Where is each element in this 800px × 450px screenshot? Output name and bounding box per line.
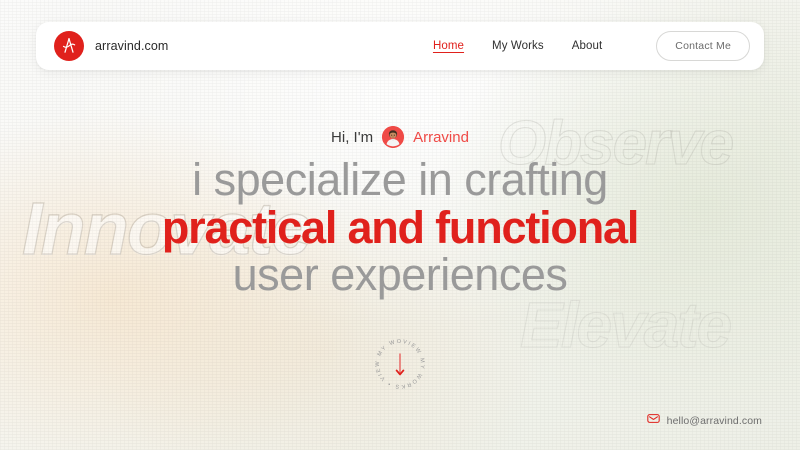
greeting-name-label: Arravind (413, 129, 469, 146)
footer-email-label: hello@arravind.com (667, 415, 762, 427)
scroll-badge-circular-text: VIEW MY WORKS • VIEW MY WORKS • (370, 334, 425, 389)
hero-greeting: Hi, I'm Arravind (331, 126, 469, 148)
svg-text:VIEW MY WORKS • VIEW MY WORK: VIEW MY WORKS • VIEW MY WORKS • (370, 334, 425, 389)
envelope-icon (647, 412, 660, 430)
headline-line-3: user experiences (233, 251, 568, 299)
nav-link-my-works[interactable]: My Works (492, 40, 544, 52)
footer-email-link[interactable]: hello@arravind.com (647, 412, 762, 430)
contact-me-button[interactable]: Contact Me (656, 31, 750, 61)
headline-line-2: practical and functional (162, 204, 638, 252)
greeting-prefix-label: Hi, I'm (331, 129, 373, 146)
nav-link-about[interactable]: About (572, 40, 603, 52)
headline-line-1: i specialize in crafting (192, 156, 608, 204)
arrow-down-icon (397, 354, 404, 374)
view-my-works-scroll-badge[interactable]: VIEW MY WORKS • VIEW MY WORKS • (370, 334, 430, 394)
hero-section: Hi, I'm Arravind i specialize in craftin… (0, 126, 800, 299)
brand-name-label: arravind.com (95, 39, 168, 53)
top-navigation-bar: arravind.com Home My Works About Contact… (36, 22, 764, 70)
user-avatar (382, 126, 404, 148)
page-canvas: Innovate Observe Elevate arravind.com Ho… (0, 0, 800, 450)
brand-logo-link[interactable]: arravind.com (54, 31, 168, 61)
nav-links-group: Home My Works About Contact Me (433, 31, 750, 61)
nav-link-home[interactable]: Home (433, 40, 464, 52)
a-monogram-icon (54, 31, 84, 61)
